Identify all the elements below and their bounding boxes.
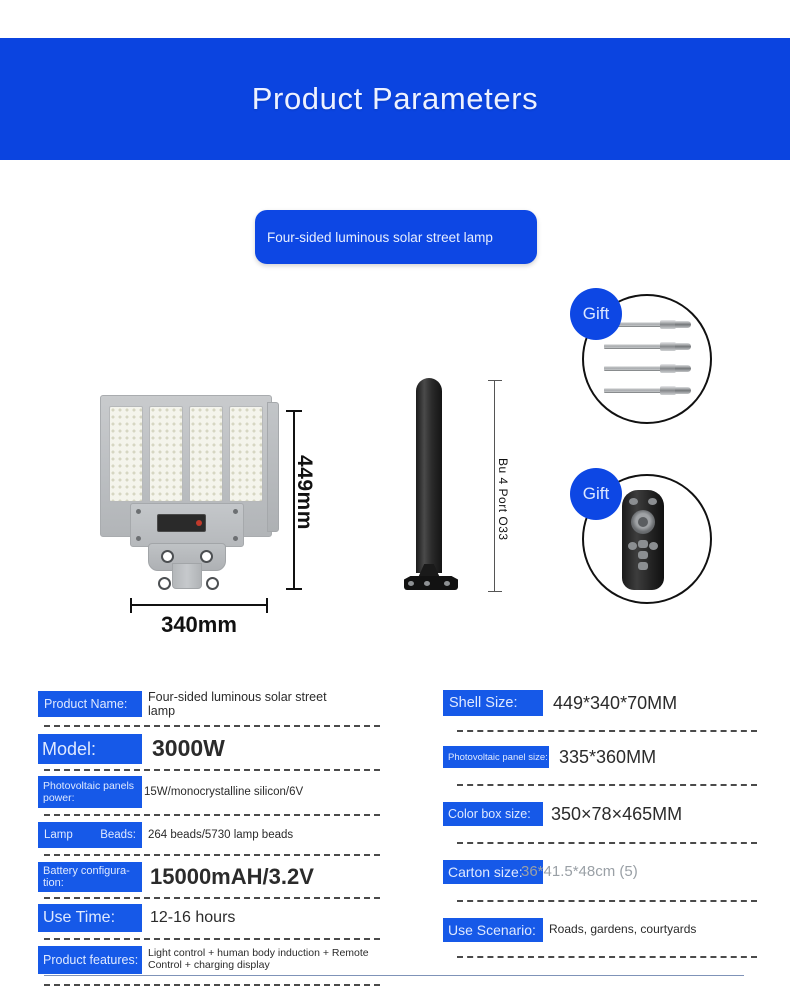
spec-label: Product features: xyxy=(43,953,142,967)
spec-value: 449*340*70MM xyxy=(543,693,677,713)
remote-control-icon xyxy=(622,490,664,590)
spec-label-part-a: Lamp xyxy=(44,829,73,841)
spec-value: 15W/monocrystalline silicon/6V xyxy=(138,786,303,799)
row-divider xyxy=(457,730,757,732)
spec-row-battery: Battery configura-tion: 15000mAH/3.2V xyxy=(38,862,388,892)
power-indicator-icon xyxy=(196,520,202,526)
bolt-icon xyxy=(200,550,213,563)
row-divider xyxy=(457,842,757,844)
page-title: Product Parameters xyxy=(252,81,538,117)
spec-value: 335*360MM xyxy=(549,747,656,767)
row-divider xyxy=(44,725,380,727)
spec-label: Color box size: xyxy=(448,807,543,821)
spec-label-chip: Product features: xyxy=(38,946,142,974)
led-panel-group xyxy=(109,406,263,502)
row-divider xyxy=(44,814,380,816)
led-panel xyxy=(189,406,223,502)
row-divider xyxy=(457,956,757,958)
spec-row-product-name: Product Name: Four-sided luminous solar … xyxy=(38,690,388,718)
spec-label: Use Time: xyxy=(43,909,142,927)
spec-label-chip: Photovoltaic panel size: xyxy=(443,746,549,768)
product-diagram: 449mm 340mm Bu 4 Port O33 Gift xyxy=(0,270,790,670)
product-parameters-page: Product Parameters Four-sided luminous s… xyxy=(0,0,790,998)
spec-row-shell-size: Shell Size: 449*340*70MM xyxy=(443,690,753,716)
gift-badge: Gift xyxy=(570,288,622,340)
bolt-icon xyxy=(161,550,174,563)
spec-value: 15000mAH/3.2V xyxy=(142,865,314,890)
row-divider xyxy=(457,784,757,786)
spec-row-color-box-size: Color box size: 350×78×465MM xyxy=(443,802,753,826)
spec-label: Battery configura-tion: xyxy=(43,865,142,889)
spec-label-chip: Lamp Beads: xyxy=(38,822,142,848)
spec-label-chip: Color box size: xyxy=(443,802,543,826)
spec-row-model: Model: 3000W xyxy=(38,734,388,764)
spec-row-product-features: Product features: Light control + human … xyxy=(38,946,388,974)
spec-label-chip: Product Name: xyxy=(38,691,142,717)
spec-row-carton-size: Carton size: 36*41.5*48cm (5) xyxy=(443,860,753,884)
bolt-icon xyxy=(158,577,171,590)
spec-value: 350×78×465MM xyxy=(543,804,682,824)
spec-row-lamp-beads: Lamp Beads: 264 beads/5730 lamp beads xyxy=(38,822,388,848)
led-panel xyxy=(149,406,183,502)
spec-value: 36*41.5*48cm (5) xyxy=(515,864,638,881)
height-dimension-label: 449mm xyxy=(292,455,316,530)
row-divider xyxy=(44,854,380,856)
pole-socket xyxy=(172,563,202,589)
pole-dimension-label: Bu 4 Port O33 xyxy=(496,458,510,541)
bolt-icon xyxy=(136,509,141,514)
spec-value: 3000W xyxy=(142,736,225,762)
product-tag-label: Four-sided luminous solar street lamp xyxy=(255,230,493,245)
lcd-display-icon xyxy=(157,514,206,532)
bolt-icon xyxy=(206,577,219,590)
gift-screws-group: Gift xyxy=(570,288,710,428)
specifications-section: Product Name: Four-sided luminous solar … xyxy=(0,690,790,960)
row-divider xyxy=(44,897,380,899)
led-panel xyxy=(109,406,143,502)
spec-label: Photovoltaic panels power: xyxy=(43,780,142,804)
spec-row-pv-panel-size: Photovoltaic panel size: 335*360MM xyxy=(443,746,753,768)
spec-label-chip: Shell Size: xyxy=(443,690,543,716)
spec-label-chip: Photovoltaic panels power: xyxy=(38,776,142,808)
bolt-icon xyxy=(136,536,141,541)
led-panel xyxy=(229,406,263,502)
spec-label: Model: xyxy=(42,739,142,760)
spec-value: 12-16 hours xyxy=(142,909,235,927)
spec-label: Photovoltaic panel size: xyxy=(448,752,549,763)
bolt-icon xyxy=(233,509,238,514)
gift-remote-group: Gift xyxy=(570,468,710,608)
row-divider xyxy=(457,900,757,902)
gift-badge: Gift xyxy=(570,468,622,520)
page-header-banner: Product Parameters xyxy=(0,38,790,160)
row-divider xyxy=(44,938,380,940)
row-divider xyxy=(44,984,380,986)
spec-value: Four-sided luminous solar street lamp xyxy=(142,690,348,718)
spec-value: Roads, gardens, courtyards xyxy=(543,923,696,936)
spec-row-use-scenario: Use Scenario: Roads, gardens, courtyards xyxy=(443,918,753,942)
spec-label: Shell Size: xyxy=(449,695,543,711)
lamp-head-illustration xyxy=(100,395,270,595)
spec-label-chip: Use Scenario: xyxy=(443,918,543,942)
pole-tube xyxy=(416,378,442,573)
footer-rule xyxy=(44,975,744,976)
spec-value: 264 beads/5730 lamp beads xyxy=(142,829,293,842)
expansion-screws-icon xyxy=(604,318,700,402)
spec-row-pv-power: Photovoltaic panels power: 15W/monocryst… xyxy=(38,776,388,808)
width-dimension-line xyxy=(130,598,268,612)
bolt-icon xyxy=(233,536,238,541)
spec-label-chip: Use Time: xyxy=(38,904,142,932)
spec-value: Light control + human body induction + R… xyxy=(142,948,388,972)
row-divider xyxy=(44,769,380,771)
product-tag-pill: Four-sided luminous solar street lamp xyxy=(255,210,537,264)
mounting-pole-illustration: Bu 4 Port O33 xyxy=(400,378,480,610)
specs-right-column: Shell Size: 449*340*70MM Photovoltaic pa… xyxy=(443,690,753,958)
spec-label: Use Scenario: xyxy=(448,922,543,938)
spec-label-chip: Model: xyxy=(38,734,142,764)
width-dimension-label: 340mm xyxy=(130,612,268,638)
specs-left-column: Product Name: Four-sided luminous solar … xyxy=(38,690,388,986)
pole-base-plate xyxy=(400,564,462,592)
spec-label-part-b: Beads: xyxy=(100,829,136,841)
spec-label-chip: Battery configura-tion: xyxy=(38,862,142,892)
spec-label: Product Name: xyxy=(44,697,142,711)
spec-row-use-time: Use Time: 12-16 hours xyxy=(38,904,388,932)
controller-plate xyxy=(130,503,244,547)
